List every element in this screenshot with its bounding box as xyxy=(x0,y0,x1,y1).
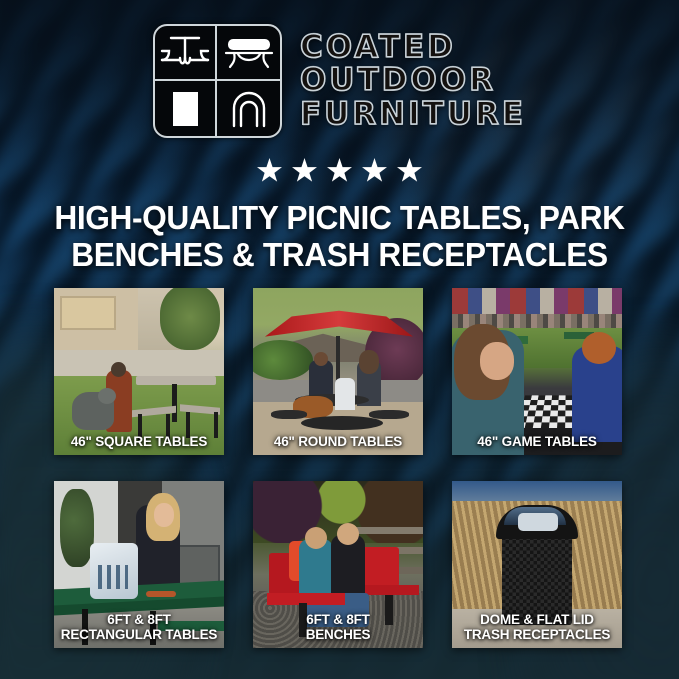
promo-banner: COATED OUTDOOR FURNITURE HIGH-QUALITY PI… xyxy=(0,0,679,679)
star-icon xyxy=(397,158,423,184)
product-caption-line: 46" SQUARE TABLES xyxy=(54,435,224,449)
photo-woman-dog-square-picnic-table xyxy=(54,288,224,455)
product-card-game-tables[interactable]: 46" GAME TABLES xyxy=(452,288,622,455)
star-icon xyxy=(362,158,388,184)
star-icon xyxy=(292,158,318,184)
headline-line-2: BENCHES & TRASH RECEPTACLES xyxy=(14,236,666,273)
product-caption: 46" GAME TABLES xyxy=(452,435,622,449)
photo-checkerboard-game-table xyxy=(452,288,622,455)
headline-line-1: HIGH-QUALITY PICNIC TABLES, PARK xyxy=(14,199,666,236)
product-caption-line: TRASH RECEPTACLES xyxy=(452,628,622,642)
picnic-table-icon xyxy=(155,26,218,81)
brand-logo-mark xyxy=(153,24,282,138)
brand-header: COATED OUTDOOR FURNITURE xyxy=(0,24,679,138)
wordmark-line-3: FURNITURE xyxy=(300,99,526,131)
product-caption-line: 6FT & 8FT xyxy=(54,613,224,627)
product-caption: 6FT & 8FT BENCHES xyxy=(253,613,423,642)
star-icon xyxy=(257,158,283,184)
product-card-rectangular-tables[interactable]: 6FT & 8FT RECTANGULAR TABLES xyxy=(54,481,224,648)
product-caption-line: RECTANGULAR TABLES xyxy=(54,628,224,642)
star-rating xyxy=(0,158,679,184)
product-caption-line: 46" GAME TABLES xyxy=(452,435,622,449)
product-caption-line: BENCHES xyxy=(253,628,423,642)
product-caption-line: 46" ROUND TABLES xyxy=(253,435,423,449)
product-card-benches[interactable]: 6FT & 8FT BENCHES xyxy=(253,481,423,648)
product-caption: DOME & FLAT LID TRASH RECEPTACLES xyxy=(452,613,622,642)
product-caption-line: 6FT & 8FT xyxy=(253,613,423,627)
product-caption-line: DOME & FLAT LID xyxy=(452,613,622,627)
trash-receptacle-icon xyxy=(155,81,218,136)
product-grid: 46" SQUARE TABLES 46" ROUND TABLES xyxy=(54,288,624,648)
wordmark-line-1: COATED xyxy=(300,32,526,64)
star-icon xyxy=(327,158,353,184)
product-caption: 46" ROUND TABLES xyxy=(253,435,423,449)
bike-rack-icon xyxy=(217,81,280,136)
bench-icon xyxy=(217,26,280,81)
wordmark-line-2: OUTDOOR xyxy=(300,65,526,97)
product-caption: 6FT & 8FT RECTANGULAR TABLES xyxy=(54,613,224,642)
photo-family-red-umbrella-round-table xyxy=(253,288,423,455)
product-caption: 46" SQUARE TABLES xyxy=(54,435,224,449)
product-card-square-tables[interactable]: 46" SQUARE TABLES xyxy=(54,288,224,455)
page-title: HIGH-QUALITY PICNIC TABLES, PARK BENCHES… xyxy=(14,199,666,274)
product-card-round-tables[interactable]: 46" ROUND TABLES xyxy=(253,288,423,455)
brand-wordmark: COATED OUTDOOR FURNITURE xyxy=(300,32,526,131)
product-card-trash-receptacles[interactable]: DOME & FLAT LID TRASH RECEPTACLES xyxy=(452,481,622,648)
